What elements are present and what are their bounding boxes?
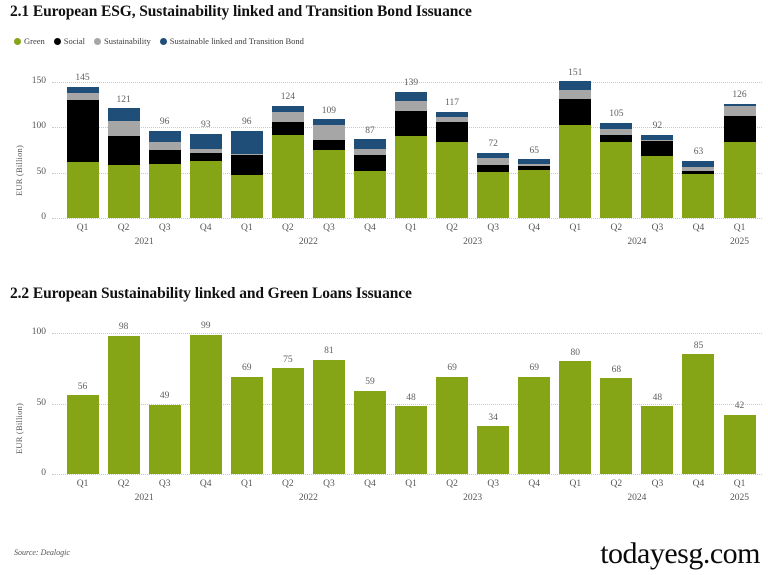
y-tick-label: 50 <box>12 168 46 178</box>
bar[interactable] <box>641 135 673 218</box>
bar[interactable] <box>436 112 468 218</box>
bar-value-label: 124 <box>281 93 295 103</box>
bar-value-label: 126 <box>732 91 746 101</box>
x-tick-label: Q4 <box>185 480 226 490</box>
bar-segment[interactable] <box>559 125 591 218</box>
bar[interactable] <box>477 426 509 474</box>
legend-dot-transition <box>160 38 167 45</box>
bar-segment[interactable] <box>67 395 99 474</box>
bar-segment[interactable] <box>724 106 756 117</box>
bar-segment[interactable] <box>600 142 632 218</box>
year-label: 2024 <box>555 494 719 504</box>
bar-group[interactable]: 48 <box>637 319 678 474</box>
year-label: 2023 <box>390 494 554 504</box>
bar-segment[interactable] <box>108 136 140 165</box>
year-label: 2024 <box>555 238 719 248</box>
bar[interactable] <box>190 134 222 218</box>
bar-group[interactable]: 151 <box>555 82 596 218</box>
x-tick-label: Q2 <box>596 480 637 490</box>
bar-value-label: 75 <box>283 356 293 366</box>
year-label: 2021 <box>62 494 226 504</box>
bar-segment[interactable] <box>231 175 263 218</box>
bar-segment[interactable] <box>190 153 222 161</box>
bar[interactable] <box>108 108 140 218</box>
bar[interactable] <box>600 378 632 474</box>
x-tick-label: Q4 <box>514 480 555 490</box>
bar-value-label: 69 <box>447 364 457 374</box>
bar-group[interactable]: 81 <box>308 319 349 474</box>
bar-group[interactable]: 72 <box>473 82 514 218</box>
bar-value-label: 145 <box>75 74 89 84</box>
bar[interactable] <box>272 106 304 218</box>
x-tick-label: Q4 <box>514 224 555 234</box>
bar-segment[interactable] <box>395 406 427 474</box>
bar-segment[interactable] <box>641 406 673 474</box>
chart-2-y-axis-label: EUR (Billion) <box>14 403 24 454</box>
legend-label-sustainability: Sustainability <box>104 36 151 46</box>
bar[interactable] <box>724 415 756 474</box>
bar-segment[interactable] <box>641 141 673 156</box>
bar[interactable] <box>354 391 386 474</box>
x-tick-label: Q1 <box>226 480 267 490</box>
bar-segment[interactable] <box>313 150 345 218</box>
bar[interactable] <box>518 159 550 218</box>
bar-value-label: 93 <box>201 121 211 131</box>
bar-group[interactable]: 87 <box>349 82 390 218</box>
legend-item-green: Green <box>14 36 45 46</box>
x-tick-label: Q3 <box>637 224 678 234</box>
bar-segment[interactable] <box>149 131 181 142</box>
bar-group[interactable]: 96 <box>226 82 267 218</box>
bar-group[interactable]: 48 <box>391 319 432 474</box>
x-tick-label: Q2 <box>103 480 144 490</box>
bar-segment[interactable] <box>231 155 263 176</box>
bar-value-label: 80 <box>571 349 581 359</box>
bar-segment[interactable] <box>477 426 509 474</box>
bar[interactable] <box>231 131 263 218</box>
x-tick-label: Q1 <box>719 480 760 490</box>
bar-group[interactable]: 121 <box>103 82 144 218</box>
bar-group[interactable]: 96 <box>144 82 185 218</box>
bar-segment[interactable] <box>559 81 591 90</box>
x-tick-label: Q4 <box>349 480 390 490</box>
bar-segment[interactable] <box>272 368 304 474</box>
bar-value-label: 96 <box>160 118 170 128</box>
bar[interactable] <box>354 139 386 218</box>
gridline <box>52 218 762 219</box>
bar-segment[interactable] <box>231 377 263 474</box>
x-tick-label: Q4 <box>678 224 719 234</box>
bar-segment[interactable] <box>354 155 386 171</box>
bar[interactable] <box>436 377 468 474</box>
legend-item-sustainability: Sustainability <box>94 36 151 46</box>
bar-segment[interactable] <box>313 125 345 140</box>
bar[interactable] <box>682 354 714 474</box>
bar-segment[interactable] <box>231 131 263 154</box>
x-tick-label: Q3 <box>144 480 185 490</box>
bar[interactable] <box>395 406 427 474</box>
bar-segment[interactable] <box>724 415 756 474</box>
bar-group[interactable]: 63 <box>678 82 719 218</box>
bar-value-label: 63 <box>694 148 704 158</box>
bar[interactable] <box>313 119 345 218</box>
x-tick-label: Q3 <box>637 480 678 490</box>
legend-item-transition: Sustainable linked and Transition Bond <box>160 36 304 46</box>
bar[interactable] <box>108 336 140 474</box>
legend-label-transition: Sustainable linked and Transition Bond <box>170 36 304 46</box>
bar[interactable] <box>149 131 181 218</box>
bar-group[interactable]: 49 <box>144 319 185 474</box>
bar-value-label: 42 <box>735 402 745 412</box>
bar-value-label: 48 <box>653 394 663 404</box>
chart-1-title: 2.1 European ESG, Sustainability linked … <box>10 3 472 21</box>
bar-segment[interactable] <box>272 112 304 122</box>
chart-1-x-axis: Q1Q2Q3Q4Q1Q2Q3Q4Q1Q2Q3Q4Q1Q2Q3Q4Q1 <box>62 224 760 234</box>
panel-esg-bond-issuance: 2.1 European ESG, Sustainability linked … <box>0 0 768 275</box>
legend-dot-green <box>14 38 21 45</box>
x-tick-label: Q1 <box>391 480 432 490</box>
legend-item-social: Social <box>54 36 85 46</box>
bar-value-label: 87 <box>365 127 375 137</box>
bar-group[interactable]: 56 <box>62 319 103 474</box>
source-note: Source: Dealogic <box>14 548 70 557</box>
bar-segment[interactable] <box>313 140 345 150</box>
bar-segment[interactable] <box>272 122 304 135</box>
bar-segment[interactable] <box>559 99 591 124</box>
bar-group[interactable]: 85 <box>678 319 719 474</box>
bar-value-label: 117 <box>445 99 459 109</box>
bar-group[interactable]: 69 <box>432 319 473 474</box>
bar[interactable] <box>600 123 632 218</box>
bar-group[interactable]: 98 <box>103 319 144 474</box>
year-label: 2022 <box>226 494 390 504</box>
watermark: todayesg.com <box>600 537 760 571</box>
chart-2-x-axis: Q1Q2Q3Q4Q1Q2Q3Q4Q1Q2Q3Q4Q1Q2Q3Q4Q1 <box>62 480 760 490</box>
bar-segment[interactable] <box>682 354 714 474</box>
bar-segment[interactable] <box>67 100 99 162</box>
chart-2-bars: 5698499969758159486934698068488542 <box>62 319 760 474</box>
bar-value-label: 98 <box>119 323 129 333</box>
bar-segment[interactable] <box>149 164 181 218</box>
bar-group[interactable]: 99 <box>185 319 226 474</box>
x-tick-label: Q2 <box>596 224 637 234</box>
bar-segment[interactable] <box>477 165 509 172</box>
x-tick-label: Q2 <box>103 224 144 234</box>
bar-value-label: 105 <box>609 110 623 120</box>
bar-segment[interactable] <box>354 139 386 149</box>
bar-group[interactable]: 139 <box>391 82 432 218</box>
bar-value-label: 92 <box>653 122 663 132</box>
bar[interactable] <box>190 335 222 475</box>
x-tick-label: Q4 <box>349 224 390 234</box>
legend-label-social: Social <box>64 36 85 46</box>
bar-value-label: 109 <box>322 107 336 117</box>
bar[interactable] <box>67 395 99 474</box>
chart-1-plot-area: EUR (Billion) 050100150 1451219693961241… <box>0 46 768 256</box>
bar[interactable] <box>313 360 345 474</box>
bar-value-label: 81 <box>324 347 334 357</box>
x-tick-label: Q3 <box>473 480 514 490</box>
bar[interactable] <box>682 161 714 218</box>
chart-1-legend: Green Social Sustainability Sustainable … <box>0 36 304 46</box>
bar-group[interactable]: 117 <box>432 82 473 218</box>
bar-value-label: 68 <box>612 366 622 376</box>
legend-dot-social <box>54 38 61 45</box>
x-tick-label: Q3 <box>308 480 349 490</box>
x-tick-label: Q3 <box>144 224 185 234</box>
y-tick-label: 0 <box>12 469 46 479</box>
x-tick-label: Q4 <box>185 224 226 234</box>
bar[interactable] <box>724 104 756 218</box>
bar-segment[interactable] <box>518 377 550 474</box>
bar[interactable] <box>395 92 427 218</box>
panel-sustainability-green-loans: 2.2 European Sustainability linked and G… <box>0 275 768 535</box>
bar-segment[interactable] <box>149 142 181 150</box>
bar-group[interactable]: 68 <box>596 319 637 474</box>
bar-value-label: 69 <box>529 364 539 374</box>
bar-segment[interactable] <box>67 162 99 218</box>
x-tick-label: Q2 <box>267 480 308 490</box>
bar-segment[interactable] <box>518 170 550 218</box>
bar-segment[interactable] <box>436 122 468 142</box>
bar-segment[interactable] <box>724 116 756 141</box>
bar-group[interactable]: 80 <box>555 319 596 474</box>
y-tick-label: 100 <box>12 328 46 338</box>
bar-segment[interactable] <box>190 134 222 149</box>
gridline <box>52 474 762 475</box>
bar-segment[interactable] <box>436 377 468 474</box>
bar-segment[interactable] <box>724 142 756 218</box>
chart-1-bars: 1451219693961241098713911772651511059263… <box>62 82 760 218</box>
bar-segment[interactable] <box>354 171 386 218</box>
year-label: 2023 <box>390 238 554 248</box>
chart-1-year-axis: 20212022202320242025 <box>62 238 760 248</box>
bar-segment[interactable] <box>477 172 509 218</box>
x-tick-label: Q3 <box>308 224 349 234</box>
bar-value-label: 151 <box>568 69 582 79</box>
bar[interactable] <box>559 361 591 474</box>
bar-group[interactable]: 42 <box>719 319 760 474</box>
bar-segment[interactable] <box>108 165 140 218</box>
bar-segment[interactable] <box>395 111 427 135</box>
bar[interactable] <box>477 153 509 218</box>
bar-segment[interactable] <box>67 93 99 100</box>
x-tick-label: Q2 <box>432 480 473 490</box>
bar[interactable] <box>272 368 304 474</box>
bar-group[interactable]: 145 <box>62 82 103 218</box>
bar-segment[interactable] <box>190 335 222 475</box>
bar-value-label: 65 <box>529 147 539 157</box>
bar-value-label: 34 <box>488 414 498 424</box>
year-label: 2021 <box>62 238 226 248</box>
bar-segment[interactable] <box>190 161 222 218</box>
year-label: 2025 <box>719 494 760 504</box>
bar-segment[interactable] <box>436 142 468 218</box>
bar-segment[interactable] <box>272 135 304 218</box>
x-tick-label: Q2 <box>432 224 473 234</box>
bar-segment[interactable] <box>559 361 591 474</box>
chart-2-year-axis: 20212022202320242025 <box>62 494 760 504</box>
bar-segment[interactable] <box>354 391 386 474</box>
bar-value-label: 56 <box>78 383 88 393</box>
bar-value-label: 59 <box>365 378 375 388</box>
y-tick-label: 100 <box>12 122 46 132</box>
bar-group[interactable]: 69 <box>226 319 267 474</box>
bar-value-label: 96 <box>242 118 252 128</box>
x-tick-label: Q1 <box>391 224 432 234</box>
bar-segment[interactable] <box>313 360 345 474</box>
y-tick-label: 50 <box>12 399 46 409</box>
bar[interactable] <box>67 87 99 218</box>
bar-segment[interactable] <box>682 174 714 218</box>
bar-group[interactable]: 92 <box>637 82 678 218</box>
chart-2-title: 2.2 European Sustainability linked and G… <box>10 285 412 303</box>
bar-value-label: 85 <box>694 342 704 352</box>
year-label: 2022 <box>226 238 390 248</box>
bar-segment[interactable] <box>559 90 591 99</box>
x-tick-label: Q1 <box>719 224 760 234</box>
bar-group[interactable]: 105 <box>596 82 637 218</box>
x-tick-label: Q2 <box>267 224 308 234</box>
legend-dot-sustainability <box>94 38 101 45</box>
bar-segment[interactable] <box>395 136 427 219</box>
year-label: 2025 <box>719 238 760 248</box>
bar-segment[interactable] <box>600 135 632 142</box>
bar-segment[interactable] <box>108 121 140 136</box>
x-tick-label: Q3 <box>473 224 514 234</box>
bar-value-label: 139 <box>404 79 418 89</box>
bar[interactable] <box>559 81 591 218</box>
bar-segment[interactable] <box>395 101 427 111</box>
bar-group[interactable]: 126 <box>719 82 760 218</box>
bar-value-label: 99 <box>201 322 211 332</box>
bar-segment[interactable] <box>108 108 140 121</box>
bar[interactable] <box>231 377 263 474</box>
x-tick-label: Q4 <box>678 480 719 490</box>
bar-value-label: 49 <box>160 392 170 402</box>
bar-group[interactable]: 34 <box>473 319 514 474</box>
bar-segment[interactable] <box>395 92 427 101</box>
bar-group[interactable]: 124 <box>267 82 308 218</box>
x-tick-label: Q1 <box>226 224 267 234</box>
bar-segment[interactable] <box>108 336 140 474</box>
bar-value-label: 69 <box>242 364 252 374</box>
bar-group[interactable]: 109 <box>308 82 349 218</box>
bar-group[interactable]: 93 <box>185 82 226 218</box>
legend-label-green: Green <box>24 36 45 46</box>
bar-group[interactable]: 69 <box>514 319 555 474</box>
bar-segment[interactable] <box>600 378 632 474</box>
bar[interactable] <box>149 405 181 474</box>
y-tick-label: 150 <box>12 77 46 87</box>
bar-segment[interactable] <box>149 405 181 474</box>
bar-group[interactable]: 65 <box>514 82 555 218</box>
bar-segment[interactable] <box>149 150 181 164</box>
bar-value-label: 72 <box>488 140 498 150</box>
bar[interactable] <box>641 406 673 474</box>
x-tick-label: Q1 <box>555 480 596 490</box>
bar-segment[interactable] <box>641 156 673 218</box>
bar-value-label: 121 <box>116 96 130 106</box>
bar-value-label: 48 <box>406 394 416 404</box>
chart-2-plot-area: EUR (Billion) 050100 5698499969758159486… <box>0 309 768 534</box>
bar-group[interactable]: 59 <box>349 319 390 474</box>
x-tick-label: Q1 <box>62 480 103 490</box>
y-tick-label: 0 <box>12 213 46 223</box>
x-tick-label: Q1 <box>555 224 596 234</box>
bar[interactable] <box>518 377 550 474</box>
x-tick-label: Q1 <box>62 224 103 234</box>
bar-group[interactable]: 75 <box>267 319 308 474</box>
